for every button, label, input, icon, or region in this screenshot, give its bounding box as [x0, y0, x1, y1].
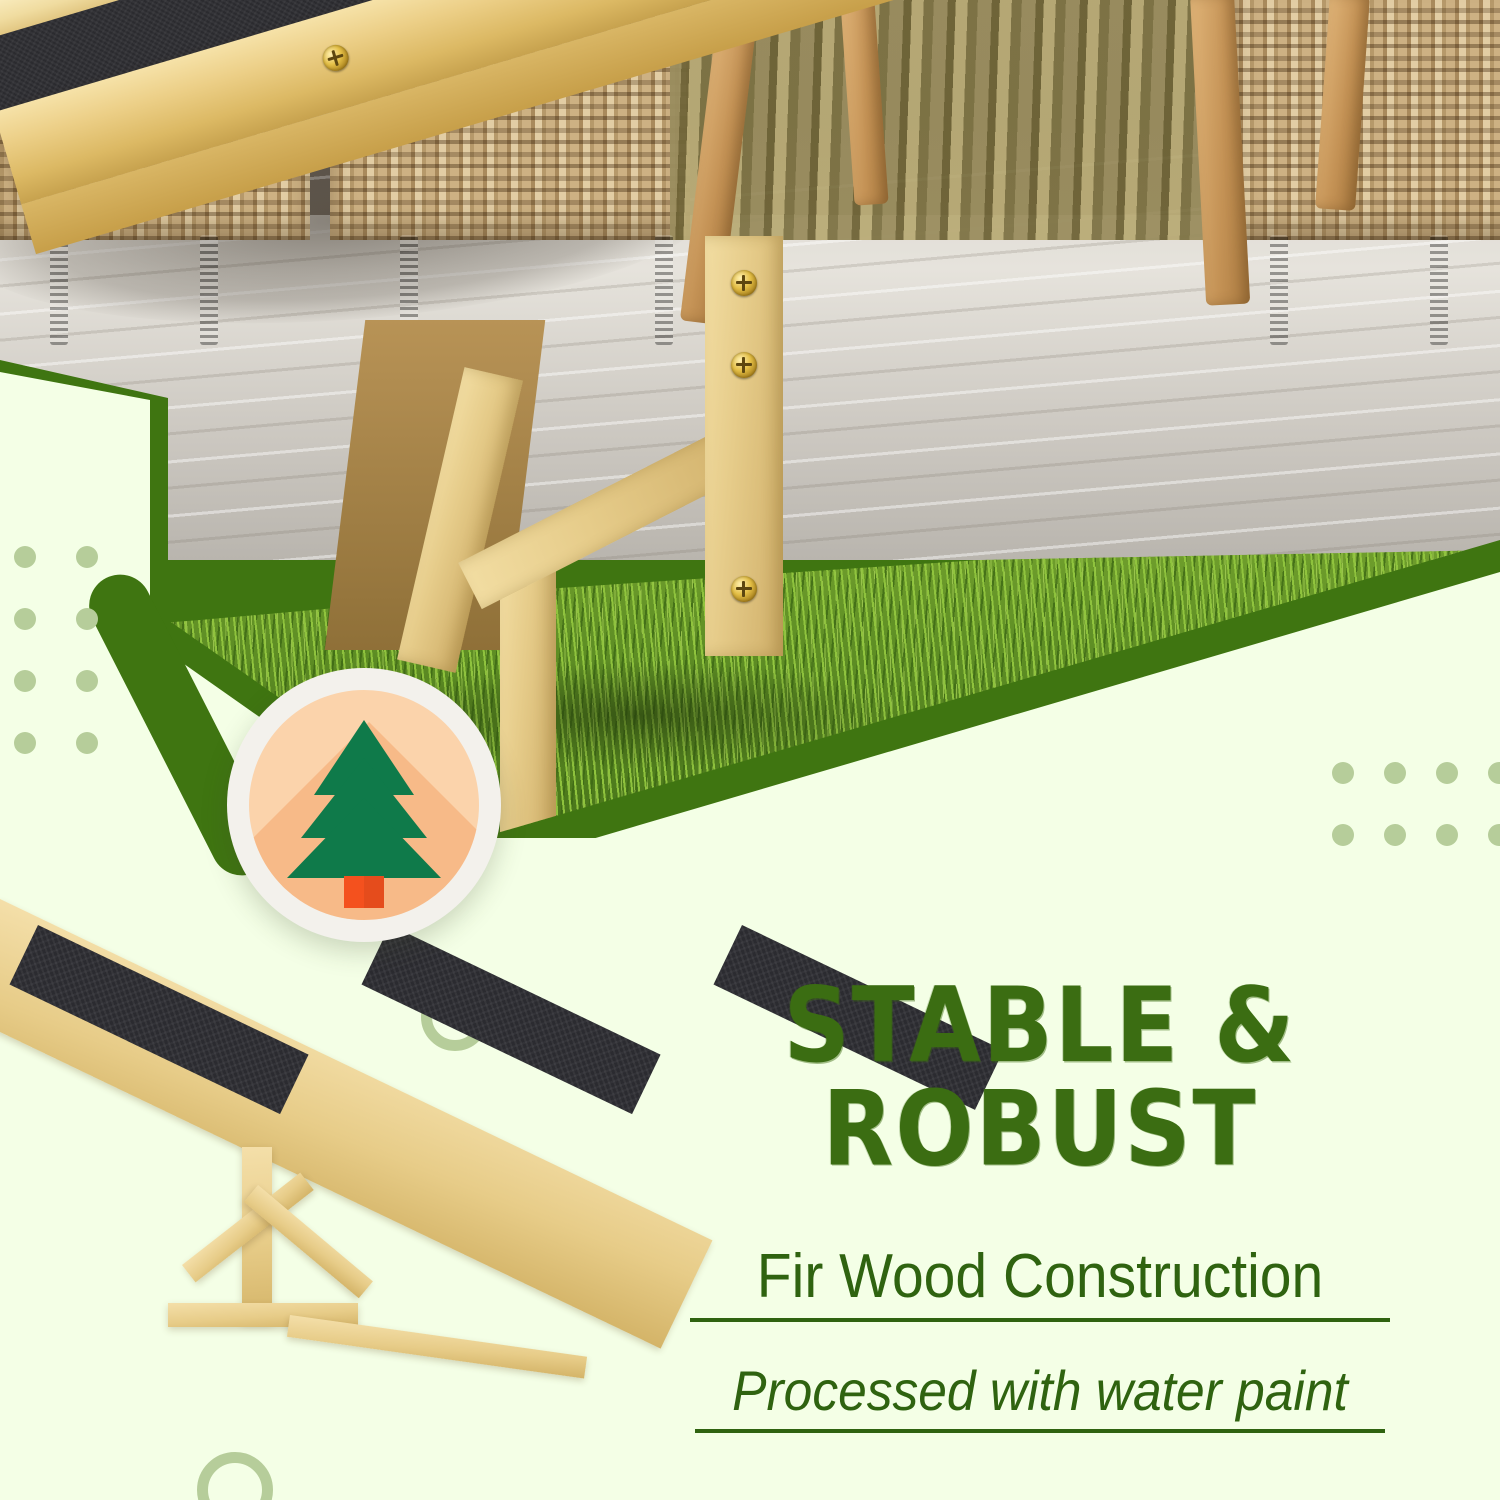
- dot: [1384, 762, 1406, 784]
- dot: [76, 670, 98, 692]
- decorative-dot-grid-left: [14, 546, 138, 794]
- dot: [76, 732, 98, 754]
- dot: [1488, 824, 1500, 846]
- page-title: STABLE & ROBUST: [600, 975, 1480, 1181]
- fir-tree-icon: [249, 690, 479, 920]
- dot: [14, 608, 36, 630]
- feature-underline-2: [695, 1429, 1385, 1433]
- dot: [1332, 762, 1354, 784]
- dot: [14, 732, 36, 754]
- dot: [1436, 762, 1458, 784]
- seesaw-support-post: [705, 236, 783, 656]
- dot: [14, 546, 36, 568]
- dot: [76, 608, 98, 630]
- dot: [1436, 824, 1458, 846]
- dot: [1384, 824, 1406, 846]
- rattan-leg: [655, 235, 673, 345]
- dot: [1488, 762, 1500, 784]
- feature-line-1: Fir Wood Construction: [635, 1241, 1445, 1312]
- dot: [76, 546, 98, 568]
- fir-wood-badge: [227, 668, 501, 942]
- dot: [1332, 824, 1354, 846]
- marketing-banner: STABLE & ROBUST Fir Wood Construction Pr…: [0, 0, 1500, 1500]
- brass-screw-icon: [731, 576, 757, 602]
- rattan-leg: [1430, 235, 1448, 345]
- badge-face: [249, 690, 479, 920]
- seesaw-support-foot: [500, 560, 556, 850]
- feature-line-2: Processed with water paint: [635, 1358, 1445, 1423]
- feature-text-block: STABLE & ROBUST Fir Wood Construction Pr…: [600, 975, 1480, 1433]
- decorative-dot-grid-right: [1332, 762, 1500, 886]
- product-base-rail: [287, 1315, 587, 1379]
- rattan-leg: [1270, 235, 1288, 345]
- brass-screw-icon: [731, 270, 757, 296]
- feature-underline-1: [690, 1318, 1390, 1322]
- brass-screw-icon: [731, 352, 757, 378]
- dot: [14, 670, 36, 692]
